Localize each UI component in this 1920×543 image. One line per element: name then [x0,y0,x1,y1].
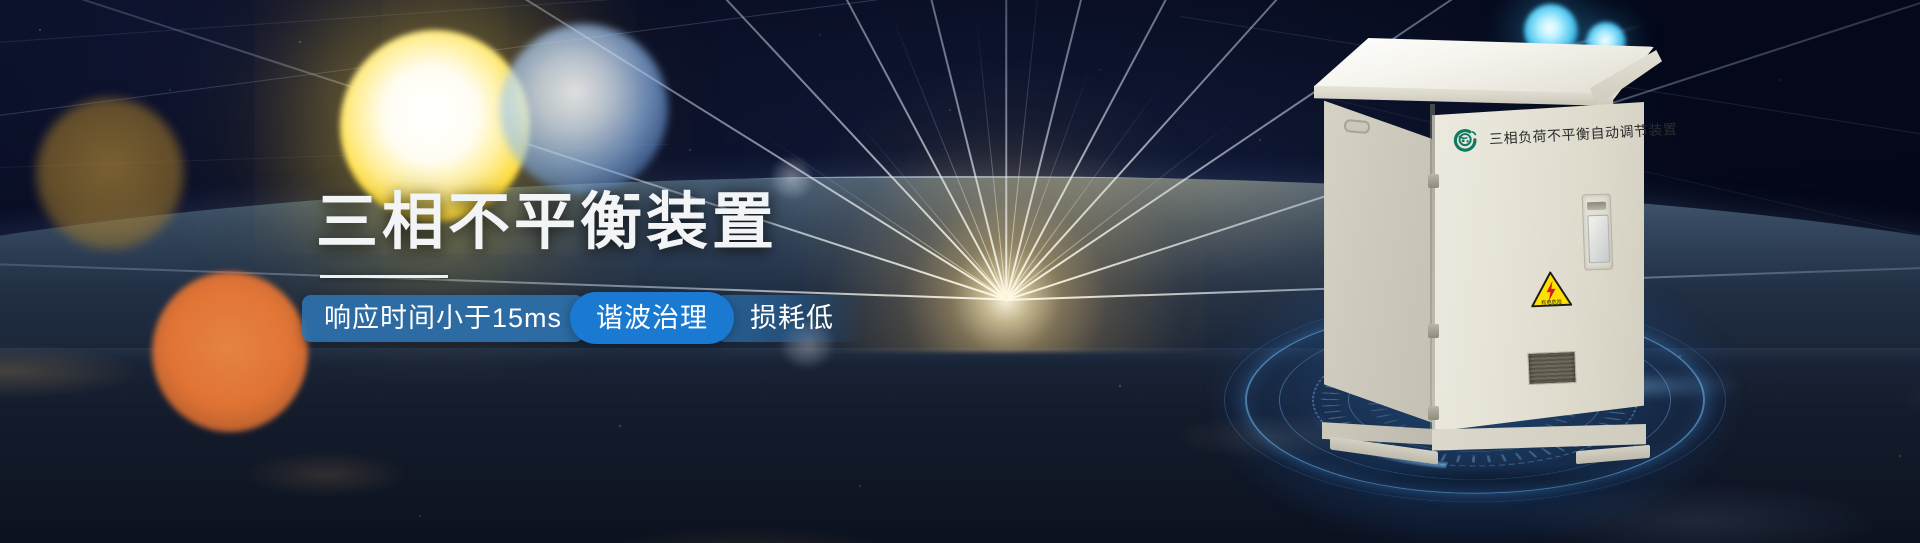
banner-headline: 三相不平衡装置 [316,192,778,254]
banner-copy: 三相不平衡装置 响应时间小于15ms 谐波治理 损耗低 [0,0,1920,543]
feature-pill-low-loss: 损耗低 [716,295,864,342]
hero-banner: 三相负荷不平衡自动调节装置 有电危险 三相不平衡装置 响应时间小于15ms 谐波… [0,0,1920,543]
feature-pill-response-time: 响应时间小于15ms [302,295,584,342]
headline-divider [320,275,448,278]
feature-pill-group: 响应时间小于15ms 谐波治理 损耗低 [302,292,864,344]
feature-pill-harmonic: 谐波治理 [570,292,734,344]
